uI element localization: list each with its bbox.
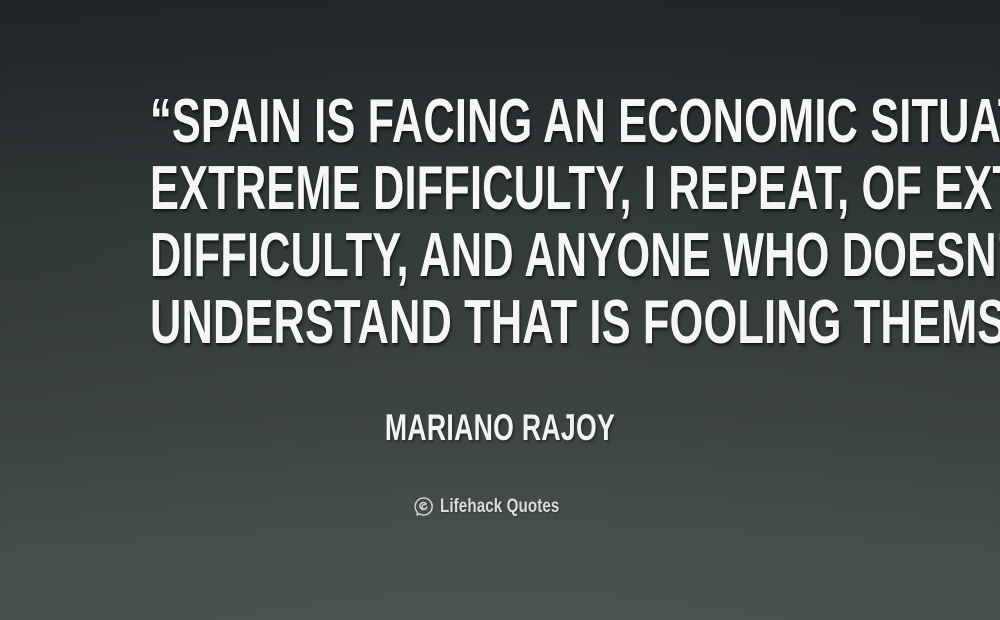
author-name: MARIANO RAJOY <box>140 408 860 448</box>
quote-text-block: “SPAIN IS FACING AN ECONOMIC SITUATION O… <box>0 88 1000 356</box>
quote-line-4: UNDERSTAND THAT IS FOOLING THEMSELVES.” <box>150 289 850 356</box>
brand-footer: Lifehack Quotes <box>0 497 1000 516</box>
quote-line-3: DIFFICULTY, AND ANYONE WHO DOESN’T <box>150 222 850 289</box>
quote-image-canvas: “SPAIN IS FACING AN ECONOMIC SITUATION O… <box>0 0 1000 620</box>
brand-name: Lifehack Quotes <box>440 497 559 516</box>
quote-line-1: “SPAIN IS FACING AN ECONOMIC SITUATION O… <box>150 88 850 155</box>
quote-attribution: MARIANO RAJOY <box>0 408 1000 448</box>
lifehack-circle-logo-icon <box>414 497 433 516</box>
quote-line-2: EXTREME DIFFICULTY, I REPEAT, OF EXTREME <box>150 155 850 222</box>
